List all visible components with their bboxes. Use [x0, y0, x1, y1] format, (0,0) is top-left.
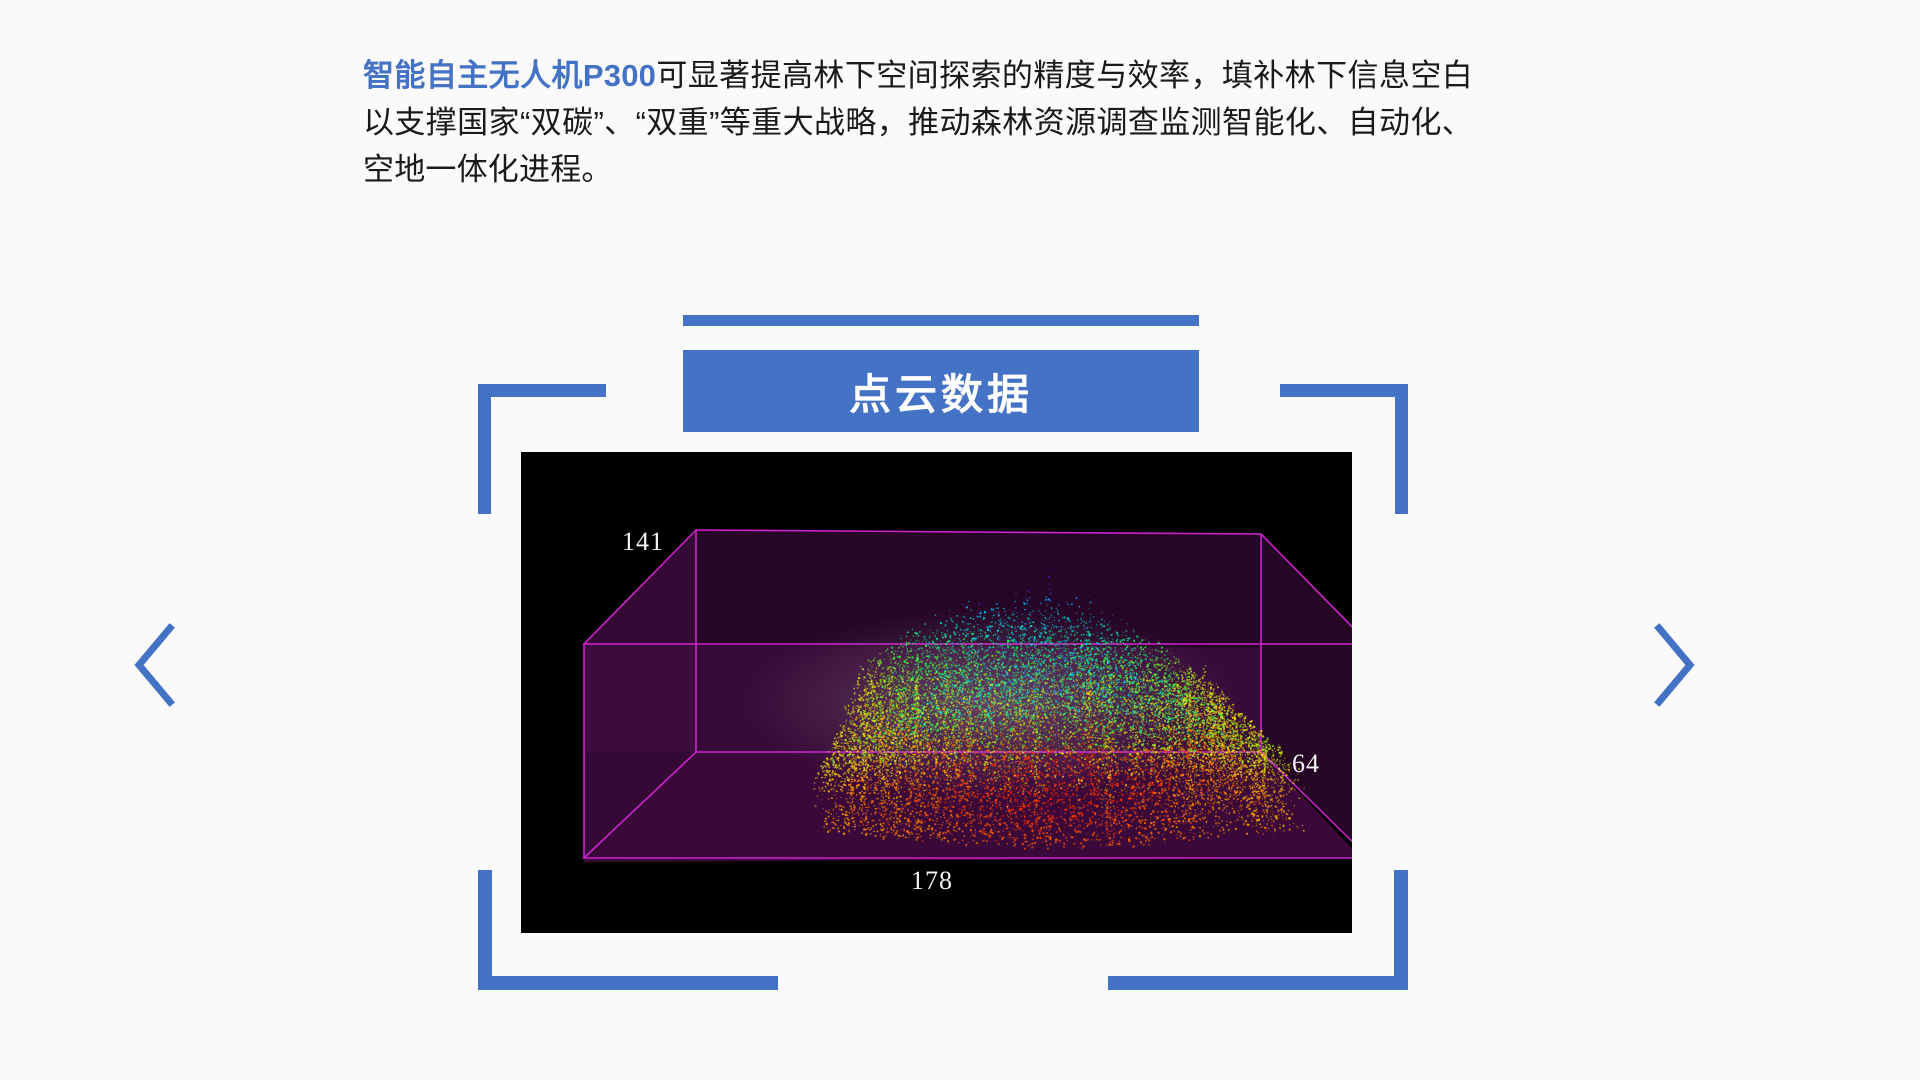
bracket-bottom-right-horizontal	[1108, 976, 1408, 990]
bracket-bottom-left-vertical	[478, 870, 492, 990]
axis-label-width: 178	[911, 866, 953, 896]
section-title-text: 点云数据	[849, 361, 1033, 422]
banner-accent-bar	[683, 315, 1199, 326]
chevron-left-icon	[125, 620, 189, 710]
axis-label-height: 141	[622, 527, 664, 557]
bracket-top-right-vertical	[1395, 384, 1408, 514]
carousel-next-button[interactable]	[1640, 620, 1704, 710]
chevron-right-icon	[1640, 620, 1704, 710]
bracket-top-left-horizontal	[478, 384, 606, 397]
description-paragraph: 智能自主无人机P300可显著提高林下空间探索的精度与效率，填补林下信息空白以支撑…	[363, 52, 1473, 193]
bracket-top-left-vertical	[478, 384, 491, 514]
bracket-top-right-horizontal	[1280, 384, 1408, 397]
carousel-prev-button[interactable]	[125, 620, 189, 710]
product-name-highlight: 智能自主无人机P300	[363, 58, 656, 93]
section-title-banner: 点云数据	[683, 350, 1199, 432]
bracket-bottom-left-horizontal	[478, 976, 778, 990]
slide: 智能自主无人机P300可显著提高林下空间探索的精度与效率，填补林下信息空白以支撑…	[0, 0, 1920, 1080]
axis-label-depth: 64	[1292, 749, 1320, 779]
point-cloud-canvas	[521, 452, 1352, 933]
point-cloud-viewport	[521, 452, 1352, 933]
bracket-bottom-right-vertical	[1394, 870, 1408, 990]
